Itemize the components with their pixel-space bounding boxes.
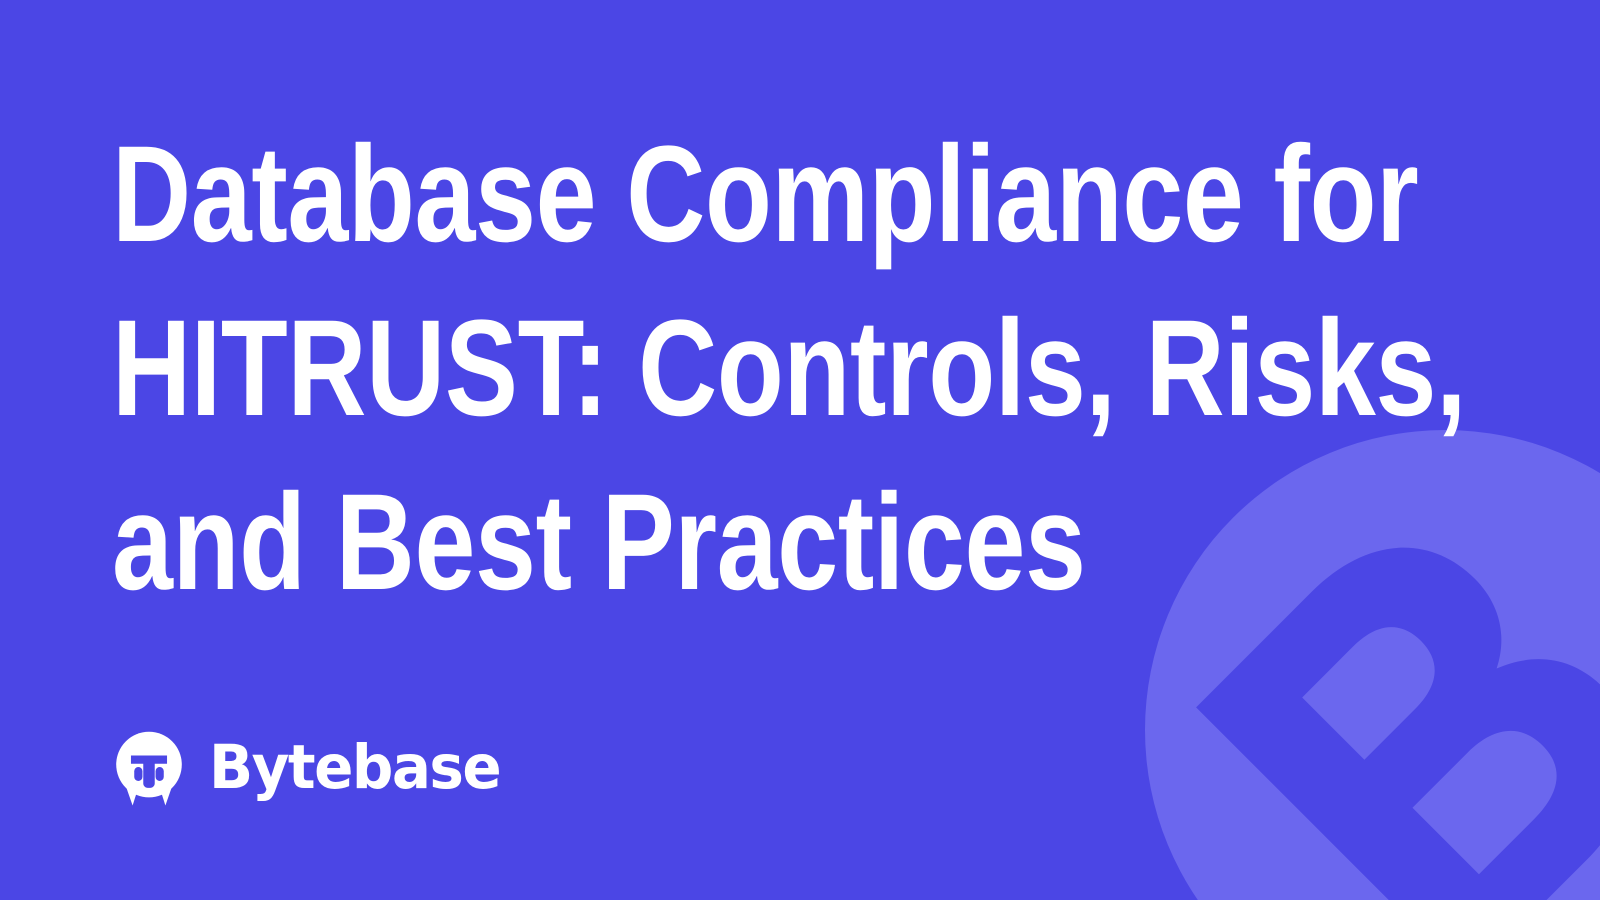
bytebase-logo-icon bbox=[108, 726, 190, 808]
title-block: Database Compliance for HITRUST: Control… bbox=[112, 108, 1542, 630]
brand-wordmark: Bytebase bbox=[209, 737, 500, 798]
cover-card: Database Compliance for HITRUST: Control… bbox=[0, 0, 1600, 900]
page-title: Database Compliance for HITRUST: Control… bbox=[112, 108, 1536, 630]
brand-lockup: Bytebase bbox=[108, 726, 516, 808]
